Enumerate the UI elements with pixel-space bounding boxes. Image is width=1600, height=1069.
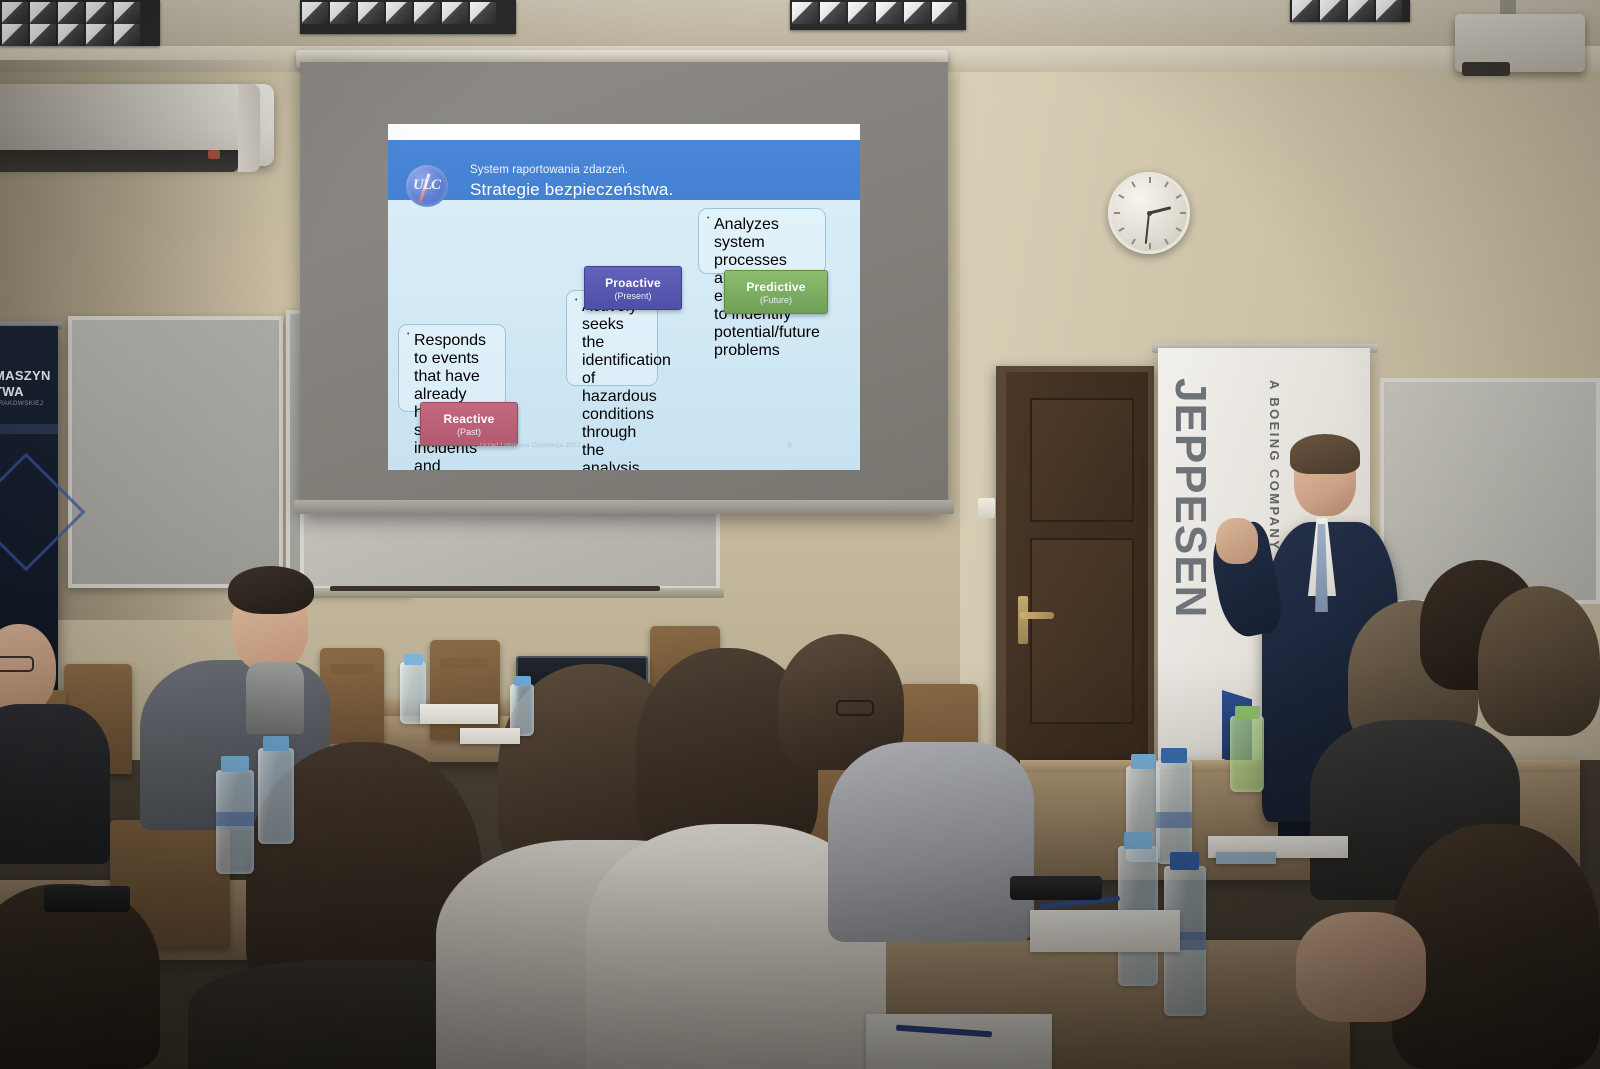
bottle-cap — [514, 676, 531, 686]
tag-label: Reactive — [444, 412, 495, 426]
ceiling-light-grille — [790, 0, 966, 30]
ceiling-light-grille — [300, 0, 516, 34]
slide-footer: Urząd Lotnictwa Cywilnego 2017 — [480, 442, 581, 449]
bottle-cap — [1131, 754, 1156, 769]
tag-reactive: Reactive (Past) — [420, 402, 518, 446]
left-banner-line3: KRAKOWSKIEJ — [0, 400, 43, 407]
door-lever[interactable] — [1020, 612, 1054, 619]
bottle-cap — [221, 756, 249, 772]
notebook-page — [460, 728, 520, 744]
clock-center-pin — [1147, 211, 1152, 216]
eyeglasses-icon — [836, 700, 874, 716]
light-switch[interactable] — [978, 498, 995, 518]
left-banner-divider — [0, 424, 58, 434]
chalk-rail — [330, 586, 660, 591]
bottle-cap — [1124, 832, 1152, 849]
callout-predictive: Analyzes system processes and environmen… — [698, 208, 826, 274]
left-banner-line1: MASZYN — [0, 368, 51, 383]
notebook-page — [1030, 910, 1180, 952]
chair-slat — [440, 658, 488, 668]
presenter-hand — [1216, 518, 1258, 564]
water-bottle[interactable] — [258, 748, 294, 844]
tag-timeframe: (Future) — [760, 295, 792, 305]
presenter-hair — [1290, 434, 1360, 474]
document-stack — [1216, 852, 1276, 864]
tag-proactive: Proactive (Present) — [584, 266, 682, 310]
attendee-hair — [228, 566, 314, 614]
presentation-slide: ULC System raportowania zdarzeń. Strateg… — [388, 124, 860, 470]
chair-slat — [330, 664, 374, 674]
phone[interactable] — [1010, 876, 1102, 900]
tag-timeframe: (Past) — [457, 427, 481, 437]
clock-minute-hand — [1145, 213, 1150, 244]
left-banner-line2: TWA — [0, 384, 24, 399]
bottle-cap — [1235, 706, 1260, 719]
door-handle-plate[interactable] — [1018, 596, 1028, 644]
water-bottle[interactable] — [1230, 716, 1264, 792]
tag-label: Predictive — [746, 280, 805, 294]
bottle-cap — [1161, 748, 1187, 763]
bottle-cap — [263, 736, 289, 751]
notebook-page — [420, 704, 498, 724]
lecture-room-photo: ULC System raportowania zdarzeń. Strateg… — [0, 0, 1600, 1069]
audience-hair — [1478, 586, 1600, 736]
wall-clock — [1108, 172, 1190, 254]
whiteboard-left — [68, 316, 283, 588]
ceiling-light-grille — [0, 0, 160, 46]
notebook-page — [866, 1014, 1052, 1069]
tag-timeframe: (Present) — [614, 291, 651, 301]
slide-page-number: 5 — [788, 442, 792, 449]
projection-screen: ULC System raportowania zdarzeń. Strateg… — [300, 62, 948, 514]
door-panel-lower — [1030, 538, 1134, 724]
logo-mark-text: ULC — [413, 176, 441, 194]
audience-sweater — [828, 742, 1034, 942]
eyeglasses-icon — [0, 656, 34, 672]
phone[interactable] — [44, 886, 130, 912]
bottle-label — [1156, 812, 1192, 828]
door-panel-upper — [1030, 398, 1134, 522]
clock-hour-hand — [1149, 206, 1171, 214]
attendee-shirt — [246, 662, 304, 734]
bottle-label — [216, 812, 254, 826]
slide-top-strip — [388, 124, 860, 140]
slide-header-bar: ULC System raportowania zdarzeń. Strateg… — [388, 140, 860, 200]
callout-text: Actively seeks the identification of haz… — [575, 298, 650, 470]
room-door[interactable] — [1006, 372, 1148, 764]
audience-shoulders — [0, 704, 110, 864]
projection-screen-bottom-bar — [294, 500, 954, 514]
bottle-cap — [1170, 852, 1199, 870]
callout-text: Responds to events that have already hap… — [407, 332, 498, 470]
tag-label: Proactive — [605, 276, 661, 290]
jeppesen-brand-text: JEPPESEN — [1159, 378, 1215, 718]
chair — [430, 640, 500, 740]
slide-title: Strategie bezpieczeństwa. — [470, 180, 673, 200]
audience-hand — [1296, 912, 1426, 1022]
tag-predictive: Predictive (Future) — [724, 270, 828, 314]
bottle-cap — [404, 654, 423, 665]
ceiling-light-grille — [1290, 0, 1410, 22]
ulc-logo-icon: ULC — [406, 165, 448, 207]
slide-eyebrow: System raportowania zdarzeń. — [470, 164, 628, 176]
callout-reactive: Responds to events that have already hap… — [398, 324, 506, 412]
projector-lens — [1462, 62, 1510, 76]
